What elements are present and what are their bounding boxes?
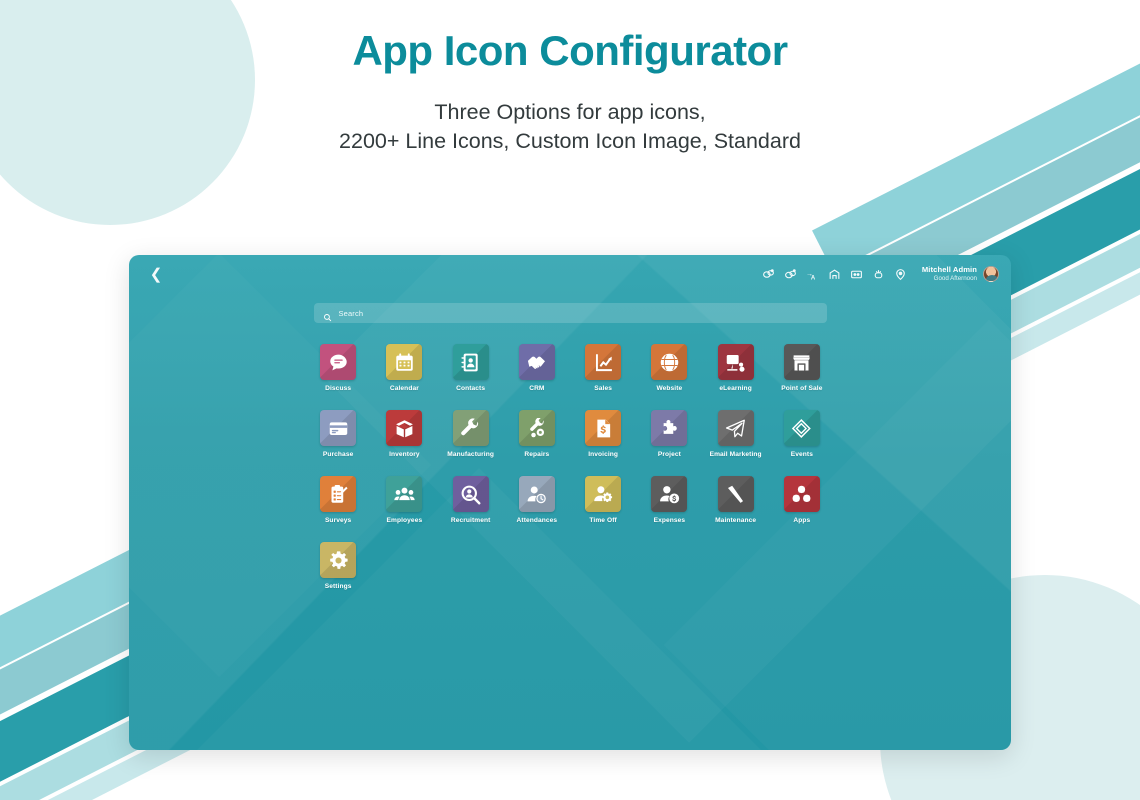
- app-item-apps[interactable]: Apps: [769, 476, 835, 524]
- app-item-time-off[interactable]: Time Off: [570, 476, 636, 524]
- avatar[interactable]: [983, 266, 999, 282]
- app-label: Apps: [793, 517, 810, 524]
- storefront-icon[interactable]: [784, 344, 820, 380]
- app-item-invoicing[interactable]: Invoicing: [570, 410, 636, 458]
- open-box-icon[interactable]: [386, 410, 422, 446]
- app-item-recruitment[interactable]: Recruitment: [438, 476, 504, 524]
- app-label: Attendances: [517, 517, 558, 524]
- ticket-icon[interactable]: [784, 410, 820, 446]
- pin-icon[interactable]: [894, 268, 907, 281]
- app-label: Time Off: [589, 517, 616, 524]
- app-item-calendar[interactable]: Calendar: [371, 344, 437, 392]
- app-label: Expenses: [654, 517, 686, 524]
- app-label: Project: [658, 451, 681, 458]
- wrench-icon[interactable]: [453, 410, 489, 446]
- app-window: ❮ → A: [129, 255, 1011, 750]
- app-label: Purchase: [323, 451, 354, 458]
- page-header: App Icon Configurator Three Options for …: [0, 26, 1140, 155]
- search-placeholder: Search: [339, 309, 364, 318]
- app-label: Events: [791, 451, 813, 458]
- page-subtitle-line-2: 2200+ Line Icons, Custom Icon Image, Sta…: [0, 127, 1140, 155]
- paper-plane-icon[interactable]: [718, 410, 754, 446]
- user-info: Mitchell Admin Good Afternoon: [922, 266, 977, 282]
- app-item-expenses[interactable]: Expenses: [636, 476, 702, 524]
- user-menu[interactable]: Mitchell Admin Good Afternoon: [922, 266, 999, 282]
- activity-icon[interactable]: [784, 268, 797, 281]
- topbar-actions: → A: [762, 266, 999, 282]
- apps-grid-icon[interactable]: [850, 268, 863, 281]
- page-subtitle: Three Options for app icons, 2200+ Line …: [0, 98, 1140, 155]
- app-item-inventory[interactable]: Inventory: [371, 410, 437, 458]
- app-item-employees[interactable]: Employees: [371, 476, 437, 524]
- app-item-purchase[interactable]: Purchase: [305, 410, 371, 458]
- app-label: Surveys: [325, 517, 351, 524]
- app-item-email-marketing[interactable]: Email Marketing: [703, 410, 769, 458]
- app-label: Employees: [387, 517, 423, 524]
- app-item-contacts[interactable]: Contacts: [438, 344, 504, 392]
- app-label: Website: [656, 385, 682, 392]
- puzzle-piece-icon[interactable]: [651, 410, 687, 446]
- app-label: Sales: [594, 385, 612, 392]
- chart-growth-icon[interactable]: [585, 344, 621, 380]
- app-grid: DiscussCalendarContactsCRMSalesWebsiteeL…: [305, 344, 835, 590]
- app-label: Email Marketing: [710, 451, 762, 458]
- app-label: Discuss: [325, 385, 351, 392]
- handshake-icon[interactable]: [519, 344, 555, 380]
- app-item-surveys[interactable]: Surveys: [305, 476, 371, 524]
- window-topbar: ❮ → A: [129, 255, 1011, 294]
- search-row: Search: [129, 294, 1011, 323]
- app-item-manufacturing[interactable]: Manufacturing: [438, 410, 504, 458]
- app-label: Recruitment: [451, 517, 491, 524]
- calendar-icon[interactable]: [386, 344, 422, 380]
- app-item-settings[interactable]: Settings: [305, 542, 371, 590]
- app-item-point-of-sale[interactable]: Point of Sale: [769, 344, 835, 392]
- bug-icon[interactable]: [872, 268, 885, 281]
- app-item-discuss[interactable]: Discuss: [305, 344, 371, 392]
- app-label: Manufacturing: [447, 451, 494, 458]
- app-label: Point of Sale: [781, 385, 822, 392]
- gear-icon[interactable]: [320, 542, 356, 578]
- page-title: App Icon Configurator: [0, 26, 1140, 76]
- presentation-icon[interactable]: [718, 344, 754, 380]
- user-clock-icon[interactable]: [519, 476, 555, 512]
- app-label: Invoicing: [588, 451, 618, 458]
- wrench-gear-icon[interactable]: [519, 410, 555, 446]
- enterprise-icon[interactable]: [828, 268, 841, 281]
- app-item-project[interactable]: Project: [636, 410, 702, 458]
- app-label: Repairs: [524, 451, 549, 458]
- app-item-crm[interactable]: CRM: [504, 344, 570, 392]
- address-book-icon[interactable]: [453, 344, 489, 380]
- search-icon: [323, 309, 332, 318]
- app-label: eLearning: [719, 385, 751, 392]
- blocks-icon[interactable]: [784, 476, 820, 512]
- app-label: Inventory: [389, 451, 420, 458]
- user-gear-icon[interactable]: [585, 476, 621, 512]
- invoice-dollar-icon[interactable]: [585, 410, 621, 446]
- app-item-elearning[interactable]: eLearning: [703, 344, 769, 392]
- app-label: Maintenance: [715, 517, 756, 524]
- hammer-icon[interactable]: [718, 476, 754, 512]
- app-item-repairs[interactable]: Repairs: [504, 410, 570, 458]
- page-subtitle-line-1: Three Options for app icons,: [0, 98, 1140, 126]
- user-greeting: Good Afternoon: [922, 275, 977, 282]
- magnifier-user-icon[interactable]: [453, 476, 489, 512]
- back-chevron-icon[interactable]: ❮: [149, 267, 163, 282]
- search-input[interactable]: Search: [314, 303, 827, 323]
- app-item-sales[interactable]: Sales: [570, 344, 636, 392]
- app-item-website[interactable]: Website: [636, 344, 702, 392]
- clipboard-pen-icon[interactable]: [320, 476, 356, 512]
- user-name: Mitchell Admin: [922, 266, 977, 275]
- svg-text:A: A: [811, 275, 816, 281]
- app-item-maintenance[interactable]: Maintenance: [703, 476, 769, 524]
- globe-icon[interactable]: [651, 344, 687, 380]
- app-label: Settings: [325, 583, 352, 590]
- app-item-attendances[interactable]: Attendances: [504, 476, 570, 524]
- app-label: Contacts: [456, 385, 485, 392]
- messaging-icon[interactable]: [762, 268, 775, 281]
- people-group-icon[interactable]: [386, 476, 422, 512]
- user-dollar-icon[interactable]: [651, 476, 687, 512]
- translate-icon[interactable]: → A: [806, 268, 819, 281]
- credit-card-icon[interactable]: [320, 410, 356, 446]
- app-label: CRM: [529, 385, 544, 392]
- page-root: App Icon Configurator Three Options for …: [0, 0, 1140, 800]
- chat-bubble-icon[interactable]: [320, 344, 356, 380]
- app-item-events[interactable]: Events: [769, 410, 835, 458]
- app-label: Calendar: [390, 385, 419, 392]
